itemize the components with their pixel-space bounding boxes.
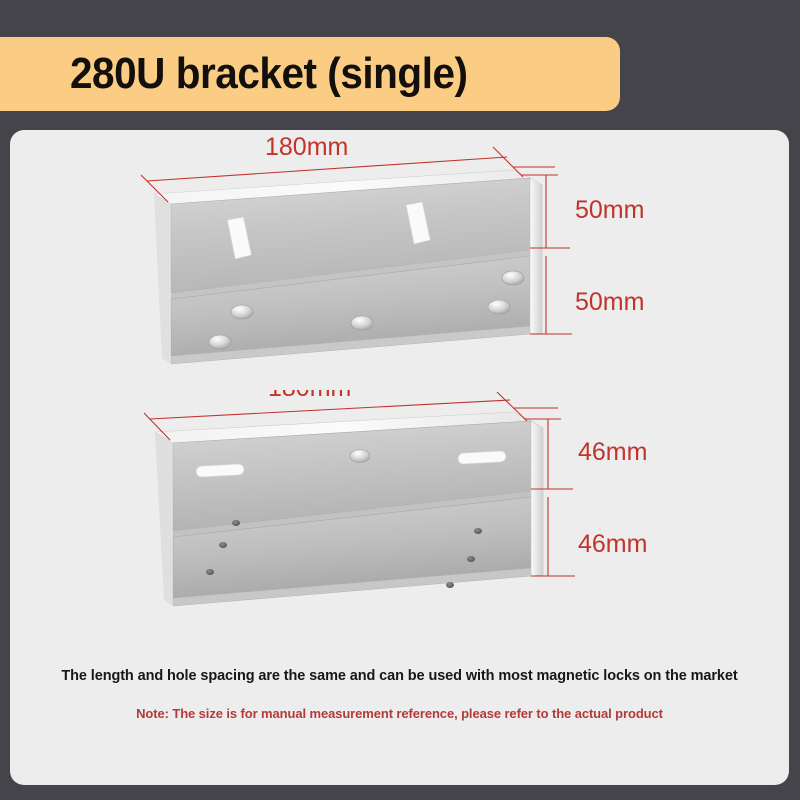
bracket-right-endcap: [530, 178, 542, 334]
dimension-label-depth-bottom: 46mm: [578, 530, 647, 558]
flange-hole-1: [232, 520, 240, 526]
bracket2-right-endcap: [531, 421, 543, 576]
page-title: 280U bracket (single): [70, 49, 468, 99]
face-slot-left: [196, 464, 245, 478]
fastener-3: [351, 316, 373, 330]
flange-hole-5: [467, 556, 475, 562]
bracket-top-body: [154, 170, 542, 364]
dimension-label-length-bottom: 180mm: [268, 390, 351, 402]
caption-measurement-note: Note: The size is for manual measurement…: [10, 706, 789, 721]
bracket-left-endcap: [154, 194, 171, 364]
caption-compatibility: The length and hole spacing are the same…: [10, 668, 789, 684]
bracket-figure-top: 180mm 50mm 50mm: [10, 130, 789, 390]
dimension-label-length-top: 180mm: [265, 133, 348, 161]
flange-hole-3: [206, 569, 214, 575]
dimension-label-height-top: 50mm: [575, 196, 644, 224]
face-slot-right: [458, 451, 507, 465]
fastener-5: [502, 271, 524, 285]
fastener-1: [209, 335, 231, 349]
flange-hole-6: [446, 582, 454, 588]
face-center-hole: [350, 450, 370, 463]
fastener-2: [231, 305, 253, 319]
flange-hole-4: [474, 528, 482, 534]
fastener-4: [488, 300, 510, 314]
bracket-figure-bottom: 180mm 46mm 46mm: [10, 390, 789, 650]
flange-hole-2: [219, 542, 227, 548]
dimension-label-depth-top: 50mm: [575, 288, 644, 316]
bracket2-left-endcap: [155, 432, 173, 606]
product-spec-panel: 180mm 50mm 50mm: [10, 130, 789, 785]
bracket-bottom-body: [155, 412, 543, 606]
title-banner: 280U bracket (single): [0, 37, 620, 111]
dimension-label-height-bottom: 46mm: [578, 438, 647, 466]
